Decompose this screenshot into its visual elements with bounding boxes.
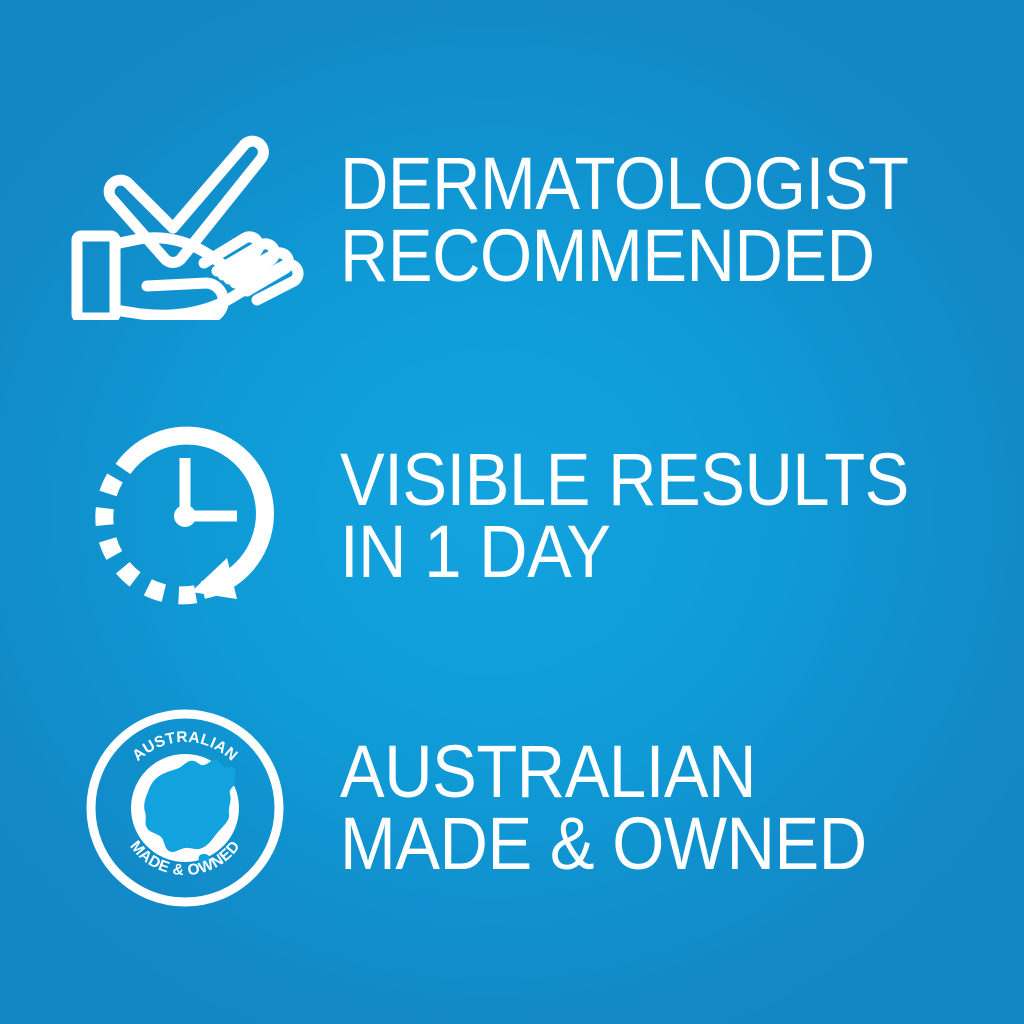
hand-with-checkmark-icon <box>65 120 305 320</box>
feature-icon-cell <box>60 408 310 623</box>
feature-icon-cell <box>60 110 310 330</box>
feature-headline-line-2: MADE & OWNED <box>340 808 901 880</box>
feature-row-visible-results: VISIBLE RESULTS IN 1 DAY <box>60 408 960 623</box>
feature-headline-line-2: RECOMMENDED <box>340 220 908 292</box>
australian-made-badge-icon: AUSTRALIAN MADE & OWNED <box>85 708 285 908</box>
feature-row-dermatologist-recommended: DERMATOLOGIST RECOMMENDED <box>60 110 960 330</box>
feature-text-cell: AUSTRALIAN MADE & OWNED <box>310 736 960 880</box>
feature-icon-cell: AUSTRALIAN MADE & OWNED <box>60 705 310 910</box>
feature-text-cell: VISIBLE RESULTS IN 1 DAY <box>310 444 969 588</box>
feature-headline-line-1: DERMATOLOGIST <box>340 148 908 220</box>
feature-row-australian-made: AUSTRALIAN MADE & OWNED AUSTRALIAN MADE … <box>60 705 960 910</box>
feature-headline-line-1: AUSTRALIAN <box>340 736 901 808</box>
feature-text-cell: DERMATOLOGIST RECOMMENDED <box>310 148 968 292</box>
promo-benefits-panel: DERMATOLOGIST RECOMMENDED <box>0 0 1024 1024</box>
feature-headline-line-1: VISIBLE RESULTS <box>340 444 909 516</box>
feature-headline-line-2: IN 1 DAY <box>340 516 909 588</box>
clock-with-arrow-icon <box>85 416 285 616</box>
